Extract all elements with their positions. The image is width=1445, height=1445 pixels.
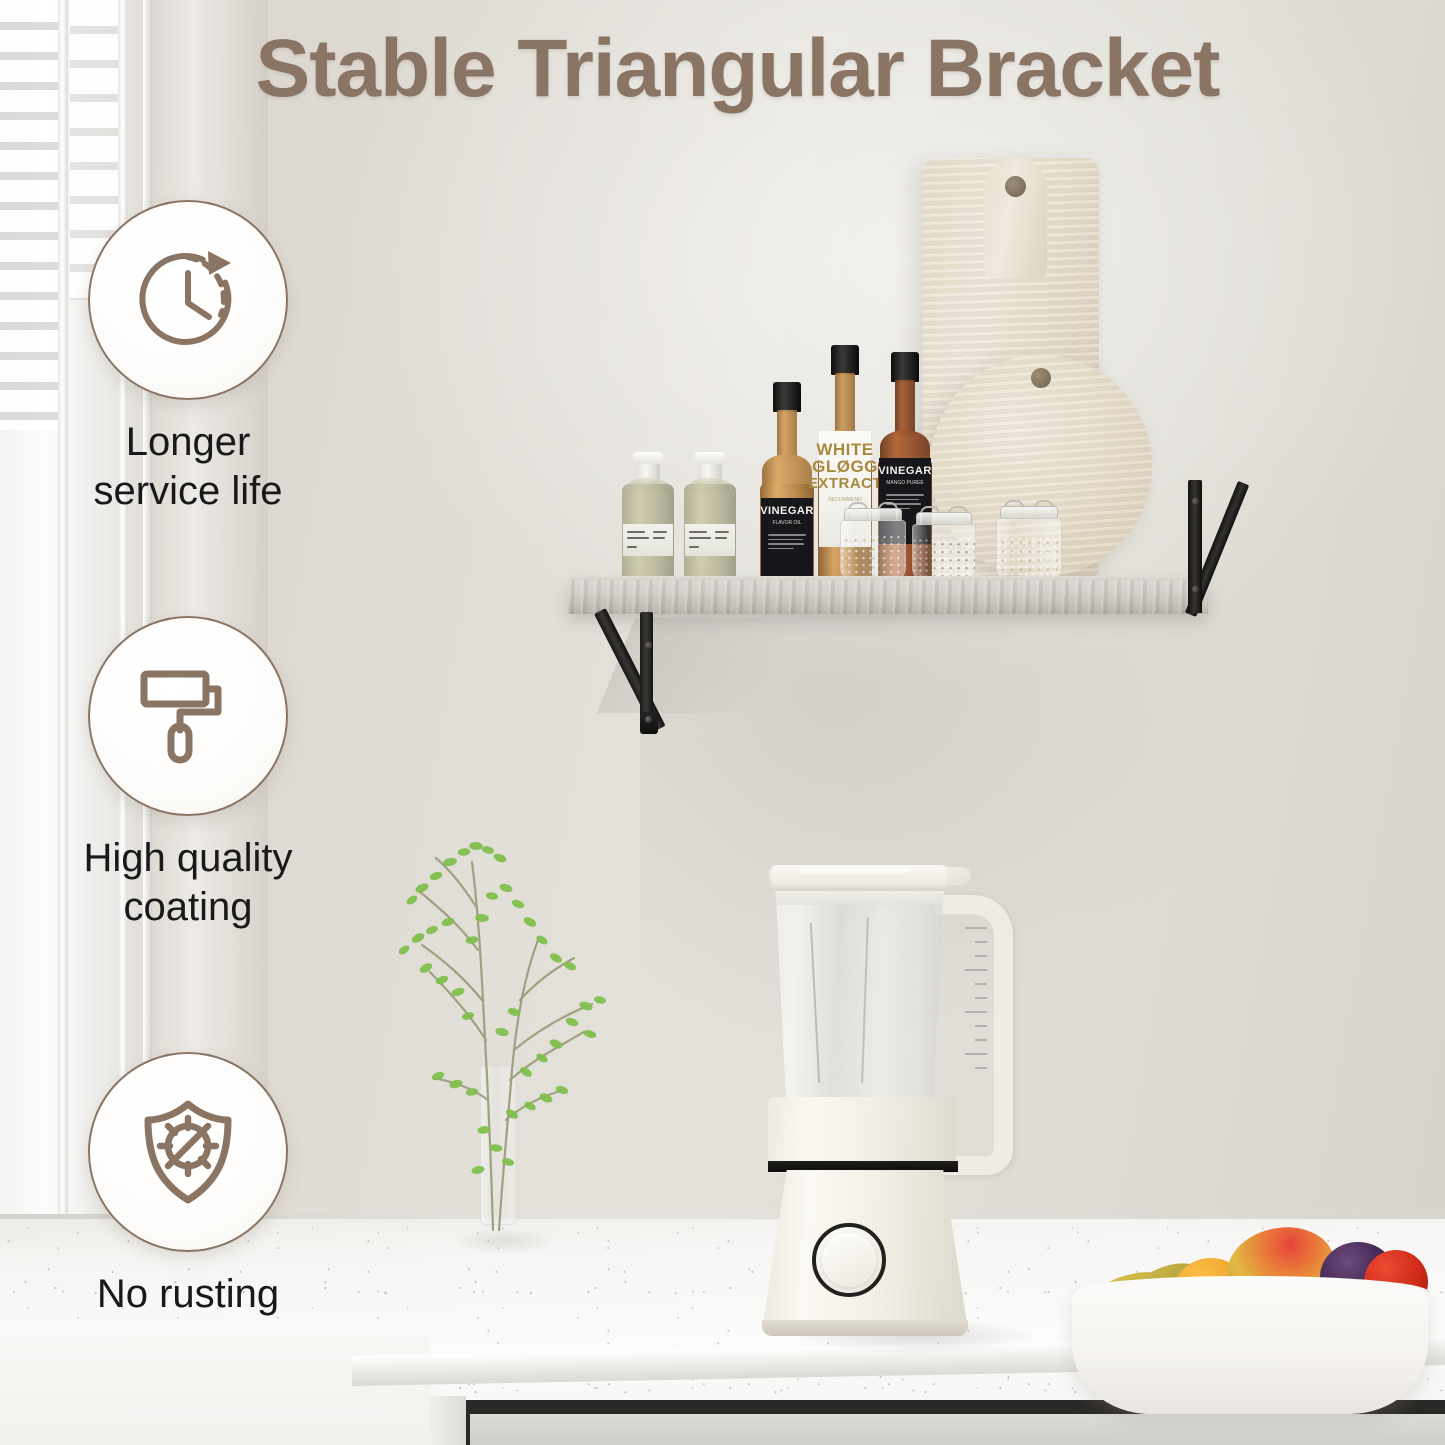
blender-jug xyxy=(772,887,947,1103)
feature-high-quality-coating: High quality coating xyxy=(38,616,338,932)
shelf-board xyxy=(568,580,1208,614)
storage-jar-grain xyxy=(996,506,1062,582)
cutting-board-round-hole-icon xyxy=(1031,368,1051,388)
fruit-bowl xyxy=(1072,1222,1428,1432)
product-marketing-image: VINEGAR FLAVOR OIL WHITE GLØGG EXTRACT R… xyxy=(0,0,1445,1445)
feature-icon-circle xyxy=(88,1052,288,1252)
cutting-board-hole-icon xyxy=(1005,176,1026,197)
page-title: Stable Triangular Bracket xyxy=(0,22,1445,116)
storage-jar-yellow xyxy=(840,508,906,582)
blender-control-knob[interactable] xyxy=(822,1233,876,1287)
vinegar-bottle-left: VINEGAR FLAVOR OIL xyxy=(760,382,814,582)
bracket-vertical-arm xyxy=(640,612,653,728)
bracket-screw-icon xyxy=(645,642,652,649)
feature-icon-circle xyxy=(88,616,288,816)
feature-label-line-1: No rusting xyxy=(38,1270,338,1319)
blender-lid-cap xyxy=(800,868,910,877)
storage-jar-gray-seeds xyxy=(912,512,976,582)
clock-rotate-icon xyxy=(129,241,247,359)
bracket-screw-icon xyxy=(1192,498,1199,505)
jar-glass xyxy=(912,524,976,582)
label-text-lines xyxy=(768,534,805,552)
jar-contents xyxy=(997,537,1061,581)
jar-contents xyxy=(841,535,905,581)
bottle-cap xyxy=(773,382,801,412)
bowl-body xyxy=(1072,1284,1428,1414)
feature-no-rusting: No rusting xyxy=(38,1052,338,1319)
paint-roller-icon xyxy=(132,660,244,772)
jar-glass xyxy=(996,518,1062,582)
triangular-bracket-right xyxy=(1150,480,1202,615)
jar-glass xyxy=(840,520,906,582)
branch-plant xyxy=(360,800,660,1240)
bracket-screw-icon xyxy=(645,716,652,723)
feature-longer-service-life: Longer service life xyxy=(38,200,338,516)
bracket-screw-icon xyxy=(1192,586,1199,593)
shield-gear-no-rust-icon xyxy=(130,1094,246,1210)
blender-foot xyxy=(762,1320,968,1336)
juice-bottle-2 xyxy=(684,452,736,582)
bottle-label xyxy=(623,524,673,556)
bottle-cap xyxy=(891,352,919,382)
blender-measurement-marks xyxy=(961,927,987,1077)
bottle-label xyxy=(685,524,735,556)
juice-bottle-1 xyxy=(622,452,674,582)
feature-label-line-1: Longer xyxy=(38,418,338,467)
blender-appliance xyxy=(760,865,1015,1365)
feature-label-line-2: coating xyxy=(38,883,338,932)
feature-label: Longer service life xyxy=(38,418,338,516)
feature-label: High quality coating xyxy=(38,834,338,932)
bottle-neck xyxy=(835,373,855,435)
feature-icon-circle xyxy=(88,200,288,400)
bottle-neck xyxy=(895,380,915,436)
feature-label-line-1: High quality xyxy=(38,834,338,883)
triangular-bracket-left xyxy=(596,612,706,730)
feature-label: No rusting xyxy=(38,1270,338,1319)
jar-contents xyxy=(913,539,975,581)
vinegar-label-left: VINEGAR FLAVOR OIL xyxy=(761,498,813,576)
feature-label-line-2: service life xyxy=(38,467,338,516)
bottle-cap xyxy=(831,345,859,375)
